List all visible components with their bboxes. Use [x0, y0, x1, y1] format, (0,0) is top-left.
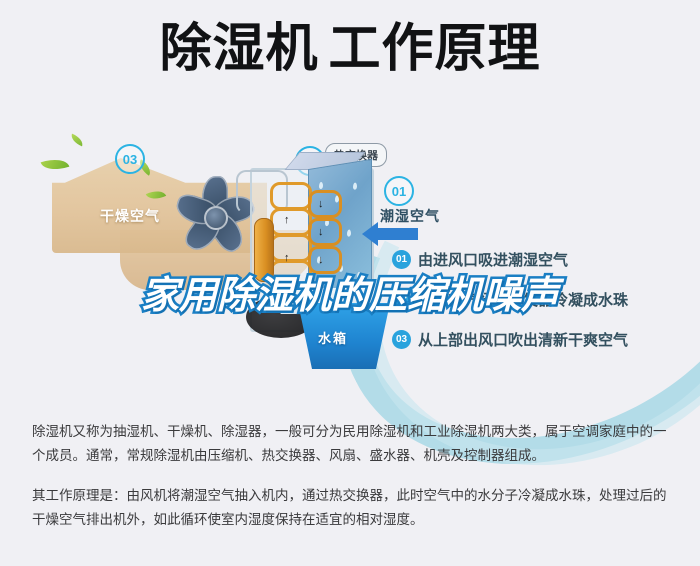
condenser-coil	[270, 234, 312, 262]
flow-arrow-down-icon: ↓	[318, 226, 324, 238]
step-text: 从上部出风口吹出清新干爽空气	[418, 329, 628, 350]
article-body: 除湿机又称为抽湿机、干燥机、除湿器，一般可分为民用除湿机和工业除湿机两大类，属于…	[32, 420, 672, 532]
leaf-icon	[69, 134, 85, 147]
step-number-badge: 01	[392, 250, 411, 269]
condenser-coil	[270, 260, 312, 288]
fan-hub	[204, 206, 228, 230]
step-text: 由进风口吸进潮湿空气	[418, 249, 568, 270]
infographic-page: 除湿机工作原理 干燥空气 03 02 01 热交换器	[0, 0, 700, 566]
title-part-2: 工作原理	[329, 19, 541, 79]
title-part-1: 除湿机	[159, 19, 318, 79]
water-droplet-icon	[357, 272, 361, 280]
step-number-badge: 02	[392, 290, 411, 309]
flow-arrow-down-icon: ↓	[318, 254, 324, 266]
flow-arrow-down-icon: ↓	[318, 198, 324, 210]
leaf-icon	[41, 154, 70, 174]
diagram-step-badge-03: 03	[115, 144, 145, 174]
intake-arrow-icon	[374, 228, 418, 240]
body-paragraph-2: 其工作原理是：由风机将潮湿空气抽入机内，通过热交换器，此时空气中的水分子冷凝成水…	[32, 484, 672, 532]
condenser-coil	[308, 218, 342, 246]
step-text: 潮湿空气经过蒸发器冷凝成水珠	[418, 289, 628, 310]
water-tank-label: 水箱	[318, 328, 348, 347]
water-droplet-icon	[347, 229, 351, 237]
compressor-cylinder	[254, 218, 274, 282]
step-item: 02 潮湿空气经过蒸发器冷凝成水珠	[392, 288, 692, 310]
body-paragraph-1: 除湿机又称为抽湿机、干燥机、除湿器，一般可分为民用除湿机和工业除湿机两大类，属于…	[32, 420, 672, 468]
steps-list: 01 由进风口吸进潮湿空气 02 潮湿空气经过蒸发器冷凝成水珠 03 从上部出风…	[392, 248, 692, 368]
intake-arrow-head-icon	[362, 222, 378, 246]
condenser-coil	[308, 190, 342, 218]
page-title: 除湿机工作原理	[0, 22, 700, 77]
flow-arrow-up-icon: ↑	[284, 214, 290, 226]
step-item: 03 从上部出风口吹出清新干爽空气	[392, 328, 692, 350]
wet-air-label: 潮湿空气	[380, 206, 440, 226]
water-droplet-icon	[353, 182, 357, 190]
condenser-coil	[270, 182, 312, 210]
step-number-badge: 03	[392, 330, 411, 349]
condenser-coil	[270, 208, 312, 236]
flow-arrow-up-icon: ↑	[284, 252, 290, 264]
condenser-coil	[308, 246, 342, 274]
step-item: 01 由进风口吸进潮湿空气	[392, 248, 692, 270]
diagram-step-badge-01: 01	[384, 176, 414, 206]
water-droplet-icon	[319, 182, 323, 190]
dry-air-label: 干燥空气	[100, 206, 160, 226]
